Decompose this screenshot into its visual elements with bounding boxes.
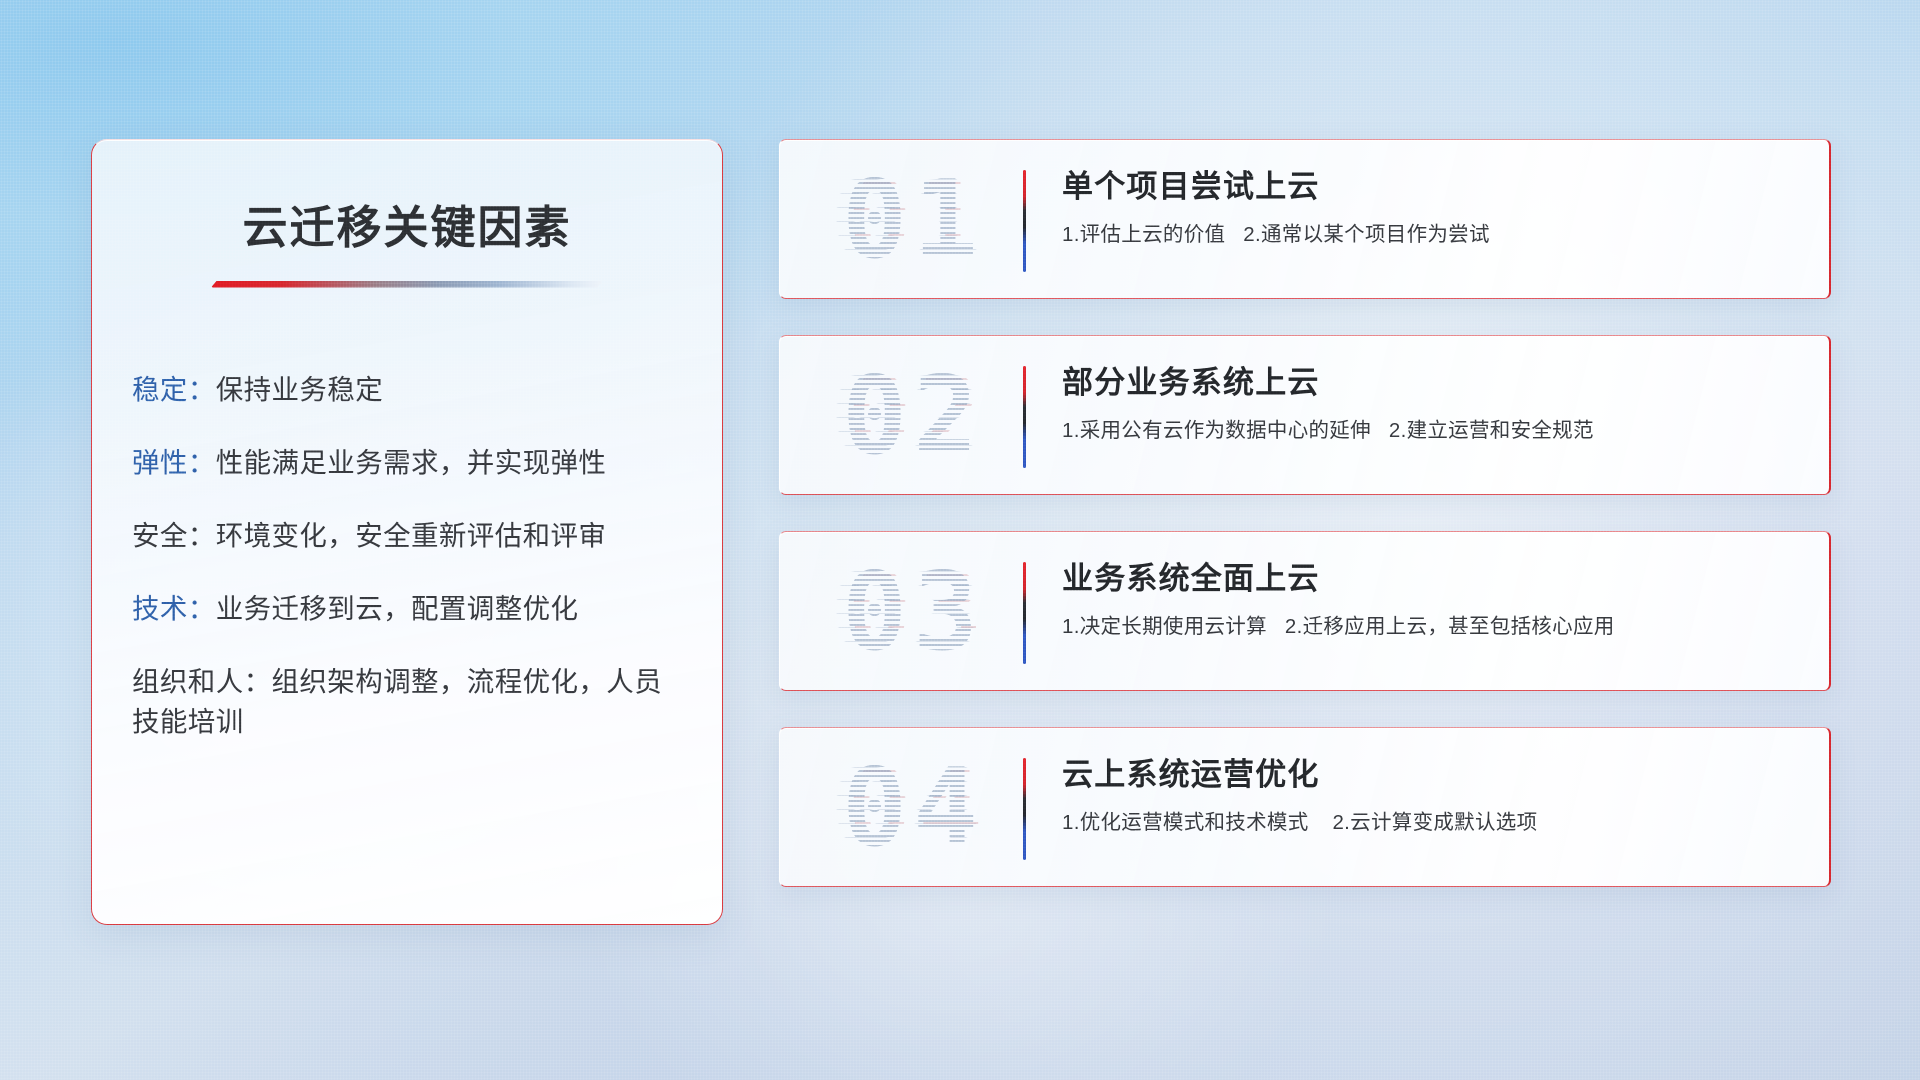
step-number-layer: 01 <box>806 147 1020 293</box>
factor-list: 稳定：保持业务稳定弹性：性能满足业务需求，并实现弹性安全：环境变化，安全重新评估… <box>92 370 722 743</box>
step-body: 业务系统全面上云1.决定长期使用云计算 2.迁移应用上云，甚至包括核心应用 <box>1062 560 1795 640</box>
step-number-layer: 02 <box>811 343 1020 489</box>
factor-item: 稳定：保持业务稳定 <box>132 370 688 410</box>
step-title: 单个项目尝试上云 <box>1062 168 1795 207</box>
step-card[interactable]: 010101单个项目尝试上云1.评估上云的价值 2.通常以某个项目作为尝试 <box>779 139 1831 299</box>
factor-label: 安全： <box>132 520 216 551</box>
step-number-layer: 04 <box>806 735 1020 881</box>
factor-item: 安全：环境变化，安全重新评估和评审 <box>132 516 688 556</box>
step-number-layer: 03 <box>811 539 1020 685</box>
migration-steps-list: 010101单个项目尝试上云1.评估上云的价值 2.通常以某个项目作为尝试020… <box>779 139 1831 925</box>
step-number-glitch-icon: 020202 <box>806 343 1020 489</box>
step-number-layer: 01 <box>806 147 1020 293</box>
factor-label: 组织和人： <box>132 666 272 697</box>
factor-text: 环境变化，安全重新评估和评审 <box>216 520 607 551</box>
step-number-layer: 02 <box>806 343 1020 489</box>
factor-text: 性能满足业务需求，并实现弹性 <box>216 447 607 478</box>
factor-text: 业务迁移到云，配置调整优化 <box>216 593 579 624</box>
step-title: 部分业务系统上云 <box>1062 364 1795 403</box>
key-factors-panel: 云迁移关键因素 稳定：保持业务稳定弹性：性能满足业务需求，并实现弹性安全：环境变… <box>91 139 723 925</box>
step-body: 单个项目尝试上云1.评估上云的价值 2.通常以某个项目作为尝试 <box>1062 168 1795 248</box>
step-title: 业务系统全面上云 <box>1062 560 1795 599</box>
panel-title: 云迁移关键因素 <box>92 203 722 253</box>
title-underline-rule <box>211 281 603 288</box>
step-number-glitch-icon: 010101 <box>806 147 1020 293</box>
step-number-layer: 01 <box>811 147 1020 293</box>
factor-item: 组织和人：组织架构调整，流程优化，人员技能培训 <box>132 662 688 742</box>
step-description: 1.采用公有云作为数据中心的延伸 2.建立运营和安全规范 <box>1062 418 1795 445</box>
step-card[interactable]: 040404云上系统运营优化1.优化运营模式和技术模式 2.云计算变成默认选项 <box>779 727 1831 887</box>
factor-item: 技术：业务迁移到云，配置调整优化 <box>132 589 688 629</box>
step-description: 1.决定长期使用云计算 2.迁移应用上云，甚至包括核心应用 <box>1062 614 1795 641</box>
step-number-layer: 03 <box>806 539 1020 685</box>
step-number-glitch-icon: 040404 <box>806 735 1020 881</box>
step-divider-bar <box>1023 170 1026 272</box>
step-number-layer: 04 <box>811 735 1020 881</box>
slide-canvas: 云迁移关键因素 稳定：保持业务稳定弹性：性能满足业务需求，并实现弹性安全：环境变… <box>0 0 1920 1080</box>
step-body: 部分业务系统上云1.采用公有云作为数据中心的延伸 2.建立运营和安全规范 <box>1062 364 1795 444</box>
step-description: 1.优化运营模式和技术模式 2.云计算变成默认选项 <box>1062 810 1795 837</box>
factor-label: 稳定： <box>132 374 216 405</box>
factor-text: 保持业务稳定 <box>216 374 383 405</box>
step-description: 1.评估上云的价值 2.通常以某个项目作为尝试 <box>1062 222 1795 249</box>
step-card[interactable]: 020202部分业务系统上云1.采用公有云作为数据中心的延伸 2.建立运营和安全… <box>779 335 1831 495</box>
factor-item: 弹性：性能满足业务需求，并实现弹性 <box>132 443 688 483</box>
step-number-layer: 03 <box>806 539 1020 685</box>
factor-label: 技术： <box>132 593 216 624</box>
step-divider-bar <box>1023 562 1026 664</box>
step-number-layer: 04 <box>806 735 1020 881</box>
step-divider-bar <box>1023 758 1026 860</box>
step-card[interactable]: 030303业务系统全面上云1.决定长期使用云计算 2.迁移应用上云，甚至包括核… <box>779 531 1831 691</box>
step-title: 云上系统运营优化 <box>1062 756 1795 795</box>
step-body: 云上系统运营优化1.优化运营模式和技术模式 2.云计算变成默认选项 <box>1062 756 1795 836</box>
factor-label: 弹性： <box>132 447 216 478</box>
step-number-glitch-icon: 030303 <box>806 539 1020 685</box>
step-divider-bar <box>1023 366 1026 468</box>
step-number-layer: 02 <box>806 343 1020 489</box>
